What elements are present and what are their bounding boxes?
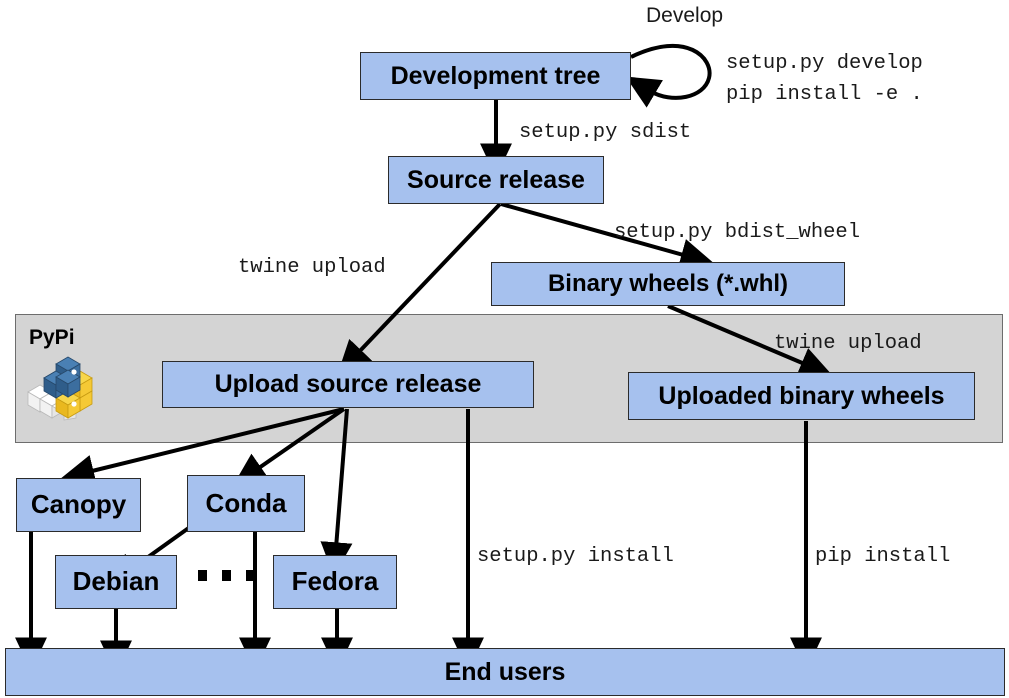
diagram-canvas: PyPi xyxy=(0,0,1009,698)
node-end-users-label: End users xyxy=(445,659,566,685)
edge-source-to-upload-source xyxy=(357,204,500,354)
label-pip-install: pip install xyxy=(815,545,950,568)
node-debian-label: Debian xyxy=(73,568,160,595)
node-uploaded-binary-wheels[interactable]: Uploaded binary wheels xyxy=(628,372,975,420)
label-develop: Develop xyxy=(646,4,723,28)
node-end-users[interactable]: End users xyxy=(5,648,1005,696)
node-binary-wheels[interactable]: Binary wheels (*.whl) xyxy=(491,262,845,306)
node-development-tree-label: Development tree xyxy=(391,63,601,89)
node-canopy[interactable]: Canopy xyxy=(16,478,141,532)
node-uploaded-binary-wheels-label: Uploaded binary wheels xyxy=(658,383,944,409)
edge-upload-to-canopy xyxy=(88,409,344,472)
node-fedora-label: Fedora xyxy=(292,568,379,595)
node-binary-wheels-label: Binary wheels (*.whl) xyxy=(548,271,788,296)
label-setup-py-develop: setup.py develop xyxy=(726,52,923,75)
label-twine-upload-source: twine upload xyxy=(238,256,386,279)
node-fedora[interactable]: Fedora xyxy=(273,555,397,609)
node-source-release-label: Source release xyxy=(407,167,585,193)
ellipsis-dot xyxy=(246,570,255,581)
node-conda-label: Conda xyxy=(206,490,287,517)
label-setup-py-bdist-wheel: setup.py bdist_wheel xyxy=(614,221,860,244)
label-pip-install-editable: pip install -e . xyxy=(726,83,923,106)
label-setup-py-install: setup.py install xyxy=(477,545,674,568)
node-debian[interactable]: Debian xyxy=(55,555,177,609)
python-logo-3d-icon xyxy=(24,356,96,422)
ellipsis-dot xyxy=(222,570,231,581)
node-source-release[interactable]: Source release xyxy=(388,156,604,204)
edge-upload-to-fedora xyxy=(336,409,347,548)
node-development-tree[interactable]: Development tree xyxy=(360,52,631,100)
ellipsis-dots xyxy=(198,570,255,581)
node-upload-source-release[interactable]: Upload source release xyxy=(162,361,534,408)
label-setup-py-sdist: setup.py sdist xyxy=(519,121,691,144)
node-canopy-label: Canopy xyxy=(31,491,126,518)
node-conda[interactable]: Conda xyxy=(187,475,305,532)
label-twine-upload-wheels: twine upload xyxy=(774,332,922,355)
node-upload-source-release-label: Upload source release xyxy=(215,371,482,397)
pypi-group-label: PyPi xyxy=(29,326,75,350)
ellipsis-dot xyxy=(198,570,207,581)
edge-develop-self-loop xyxy=(631,46,710,98)
